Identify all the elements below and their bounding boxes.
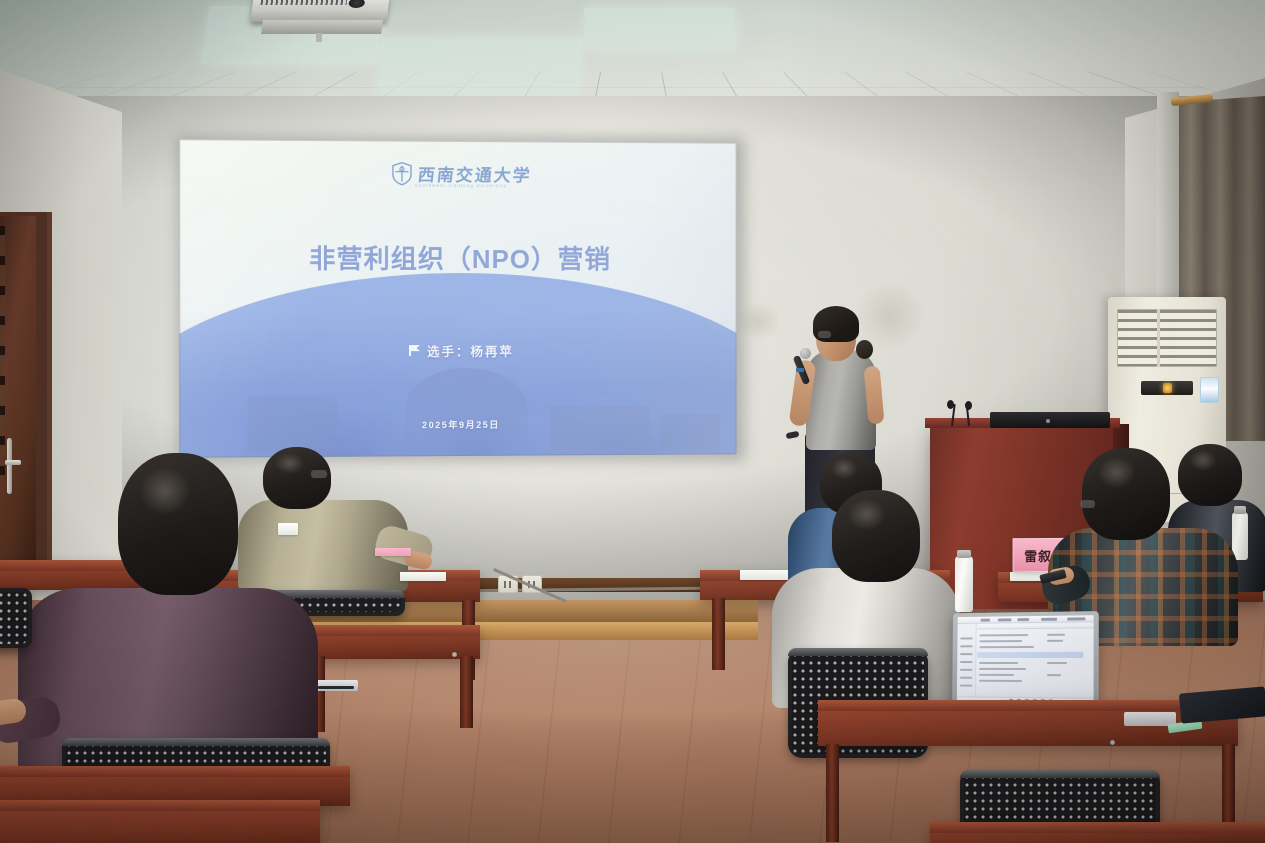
door-frame	[0, 212, 52, 572]
laptop-sidebar	[957, 624, 977, 697]
desk-fastener	[1110, 740, 1115, 745]
pen	[318, 686, 354, 689]
file-row	[979, 634, 1028, 636]
file-row	[979, 640, 1022, 642]
hair-highlight	[1190, 450, 1217, 471]
slide-presenter-line: 选手：杨再苹	[179, 341, 736, 361]
file-row	[979, 662, 1018, 664]
water-bottle[interactable]	[1232, 512, 1248, 560]
sidebar-row	[960, 677, 972, 679]
desk-surface	[818, 700, 1238, 711]
toolbar-item	[1041, 618, 1057, 621]
presenter-hair-bun	[856, 340, 873, 359]
ac-vent-grille	[1117, 309, 1217, 367]
name-badge	[278, 523, 298, 535]
paper-sheet	[400, 572, 446, 581]
chair-mesh-back	[0, 592, 28, 644]
chair-rim	[960, 770, 1160, 778]
classroom-door[interactable]	[0, 216, 36, 568]
flag-marker-icon	[408, 345, 421, 356]
university-name-en: Southwest Jiaotong University	[415, 183, 507, 188]
desk-row-foreground-right	[930, 822, 1265, 843]
audience-khaki-head	[263, 447, 331, 509]
microphone-capsule-icon	[947, 400, 954, 409]
sidebar-row	[960, 661, 972, 663]
hair-highlight	[140, 467, 190, 515]
ceiling-projector	[250, 0, 389, 22]
file-row	[1047, 674, 1061, 676]
file-row	[1047, 662, 1067, 664]
audience-plaid-head	[1082, 448, 1170, 540]
paper-sheet	[740, 570, 792, 580]
projector-ports	[260, 0, 347, 5]
slide-arch-silhouette	[405, 368, 528, 450]
bottle-cap	[1234, 506, 1246, 514]
chair-rim	[62, 738, 330, 746]
toolbar-item	[998, 618, 1012, 621]
slide-title: 非营利组织（NPO）营销	[179, 238, 736, 276]
classroom-scene: 西南交通大学 Southwest Jiaotong University 非营利…	[0, 0, 1265, 843]
microphone-head-icon	[800, 348, 811, 359]
ac-energy-label	[1200, 377, 1219, 403]
monitor-indicator-icon	[1046, 419, 1050, 423]
laptop[interactable]	[952, 611, 1099, 713]
audience-white-head	[832, 490, 920, 582]
file-row	[1047, 634, 1065, 636]
slide-background: 西南交通大学 Southwest Jiaotong University 非营利…	[179, 139, 736, 458]
laptop-column-headers	[978, 623, 1094, 629]
glasses-icon	[818, 331, 831, 338]
audience-dark-head	[1178, 444, 1242, 506]
file-row	[979, 668, 1026, 670]
desk-fastener	[452, 652, 457, 657]
water-bottle[interactable]	[955, 556, 973, 612]
door-handle[interactable]	[7, 438, 12, 494]
sidebar-row	[960, 653, 972, 655]
door-latch[interactable]	[5, 460, 21, 465]
file-row	[979, 646, 1034, 648]
toolbar-item	[980, 619, 990, 622]
shield-icon	[390, 162, 412, 186]
hair-highlight	[1098, 457, 1135, 488]
audience-maroon-head	[118, 453, 238, 595]
sidebar-row	[960, 669, 972, 671]
projector-mount	[316, 33, 322, 42]
file-row	[979, 680, 1022, 682]
confidence-monitor	[990, 412, 1110, 428]
hair-highlight	[848, 499, 885, 530]
sidebar-row	[960, 637, 972, 639]
desk-row-foreground-left	[0, 800, 320, 843]
toolbar-item	[1067, 617, 1085, 620]
glasses-icon	[311, 470, 327, 478]
file-row	[1047, 640, 1063, 642]
chair-rim	[788, 648, 928, 656]
hair-highlight	[831, 458, 857, 479]
chair[interactable]	[0, 588, 32, 648]
projector-body	[261, 20, 383, 34]
microphone-band	[796, 368, 804, 372]
door-hinge-strip	[0, 226, 5, 476]
projector-lens-icon	[348, 0, 365, 8]
sidebar-row	[960, 685, 972, 687]
ac-power-led-icon	[1163, 383, 1172, 393]
pink-paper	[375, 548, 411, 556]
ac-grille-divider	[1157, 309, 1160, 367]
glasses-icon	[1080, 500, 1095, 508]
desk-leg	[712, 598, 725, 670]
file-row	[979, 674, 1014, 676]
bottle-cap	[957, 550, 971, 558]
selected-file-row[interactable]	[977, 652, 1083, 658]
desk-surface	[0, 800, 320, 811]
laptop-screen[interactable]	[957, 615, 1094, 706]
presenter-name-text: 选手：杨再苹	[427, 341, 514, 360]
desk-surface	[0, 766, 350, 777]
sidebar-row	[960, 645, 972, 647]
outlet-slots-icon	[504, 581, 514, 588]
microphone-capsule-icon	[965, 401, 972, 410]
desk-leg	[460, 656, 473, 728]
desk-surface	[930, 822, 1265, 833]
toolbar-item	[1017, 618, 1029, 621]
hair-highlight	[275, 453, 304, 474]
desk-leg	[826, 744, 839, 842]
projection-screen: 西南交通大学 Southwest Jiaotong University 非营利…	[179, 139, 736, 458]
